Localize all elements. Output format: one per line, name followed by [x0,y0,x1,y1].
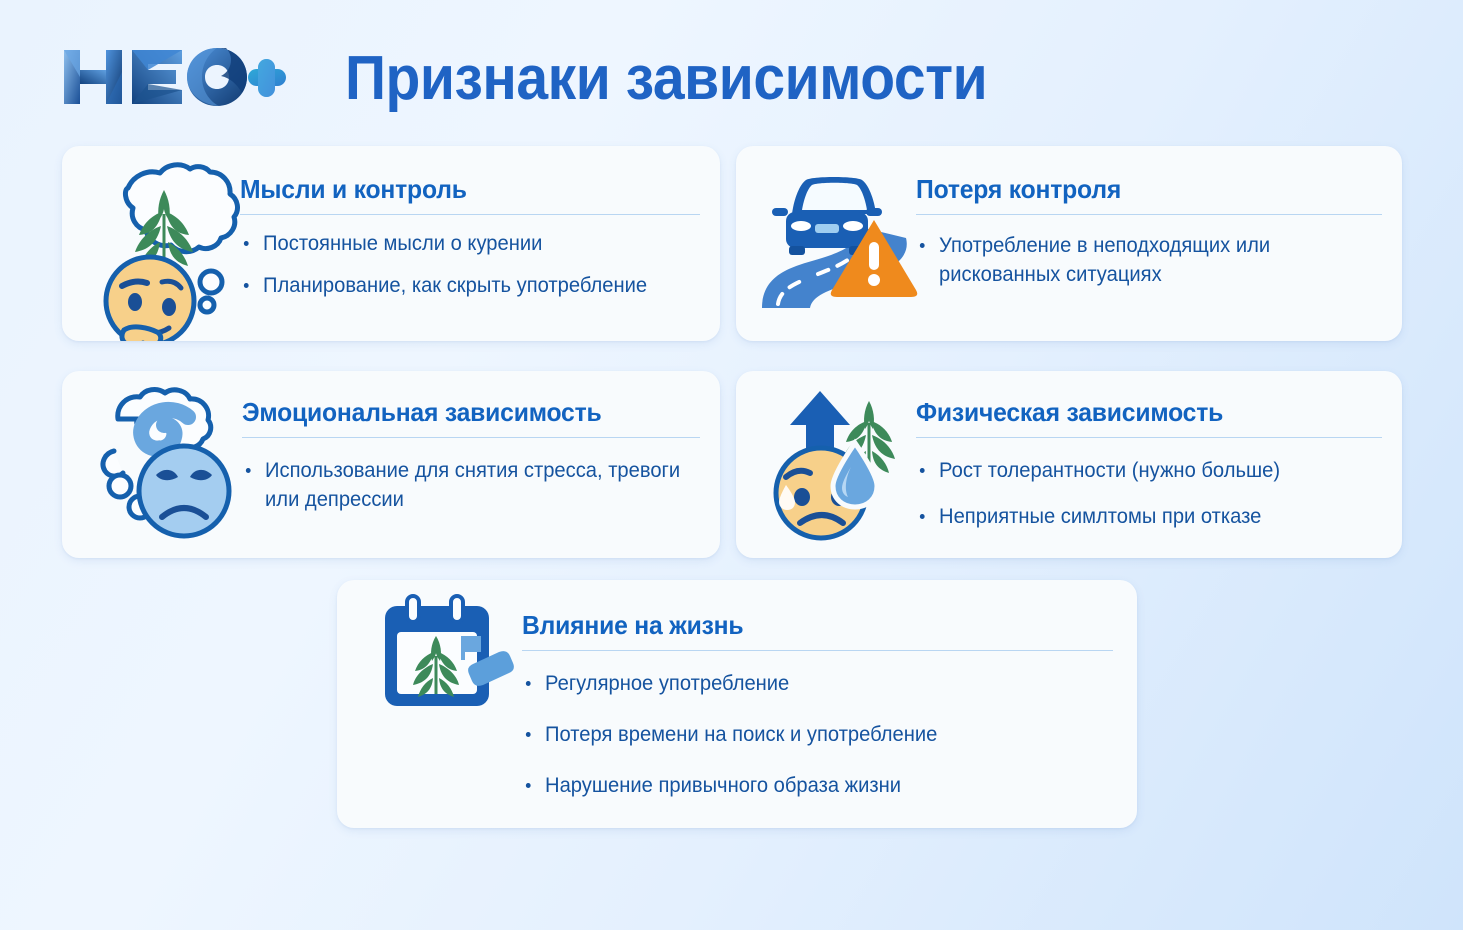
list-item: Постоянные мысли о курении [240,229,684,258]
bullet-dot-icon [244,283,249,288]
thinking-face-cannabis-thought-bubble-icon [88,162,246,341]
neo-plus-logo [62,42,287,112]
card-life-impact: Влияние на жизнь Регулярное употребление… [337,580,1137,828]
list-item: Неприятные симлтомы при отказе [916,502,1365,531]
bullet-dot-icon [920,243,925,248]
list-item-label: Нарушение привычного образа жизни [545,774,901,797]
card-title: Мысли и контроль [240,174,679,205]
card-content: Потеря контроля Употребление в неподходя… [916,146,1384,341]
list-item: Использование для снятия стресса, тревог… [242,456,684,514]
list-item-label: Потеря времени на поиск и употребление [545,723,937,746]
card-title: Физическая зависимость [916,397,1361,428]
page-title: Признаки зависимости [345,40,987,118]
list-item-label: Употребление в неподходящих или рискован… [939,234,1270,286]
bullet-dot-icon [246,468,251,473]
card-content: Влияние на жизнь Регулярное употребление… [522,580,1115,828]
bullet-dot-icon [920,468,925,473]
list-item-label: Рост толерантности (нужно больше) [939,459,1280,482]
car-road-warning-triangle-icon [756,162,922,312]
list-item: Рост толерантности (нужно больше) [916,456,1365,485]
card-title: Влияние на жизнь [522,610,1085,641]
card-content: Мысли и контроль Постоянные мысли о куре… [240,146,702,341]
title-divider [522,650,1113,651]
list-item: Употребление в неподходящих или рискован… [916,231,1365,289]
card-content: Физическая зависимость Рост толерантност… [916,371,1384,558]
title-divider [242,437,700,438]
list-item: Планирование, как скрыть употребление [240,271,684,300]
card-emotional-dependence: Эмоциональная зависимость Использование … [62,371,720,558]
bullet-list: Регулярное употребление Потеря времени н… [522,669,1115,800]
list-item-label: Регулярное употребление [545,672,789,695]
card-physical-dependence: Физическая зависимость Рост толерантност… [736,371,1402,558]
title-divider [240,214,700,215]
card-title: Потеря контроля [916,174,1361,205]
card-loss-of-control: Потеря контроля Употребление в неподходя… [736,146,1402,341]
bullet-list: Использование для снятия стресса, тревог… [242,456,702,514]
title-divider [916,437,1382,438]
calendar-cannabis-leaf-icon [377,594,527,714]
card-thoughts-control: Мысли и контроль Постоянные мысли о куре… [62,146,720,341]
bullet-list: Постоянные мысли о курении Планирование,… [240,229,702,300]
infographic-canvas: Признаки зависимости [0,0,1463,930]
header: Признаки зависимости [0,0,1463,140]
bullet-dot-icon [526,681,531,686]
card-title: Эмоциональная зависимость [242,397,679,428]
title-divider [916,214,1382,215]
bullet-list: Употребление в неподходящих или рискован… [916,231,1384,289]
list-item-label: Неприятные симлтомы при отказе [939,505,1261,528]
list-item: Потеря времени на поиск и употребление [522,720,1091,749]
bullet-dot-icon [920,514,925,519]
bullet-dot-icon [526,783,531,788]
card-content: Эмоциональная зависимость Использование … [242,371,702,558]
list-item: Нарушение привычного образа жизни [522,771,1091,800]
list-item-label: Постоянные мысли о курении [263,232,542,255]
bullet-dot-icon [526,732,531,737]
anxious-face-sweat-arrow-leaf-icon [758,381,916,546]
sad-blue-face-thought-cloud-icon [92,383,247,543]
bullet-list: Рост толерантности (нужно больше) Неприя… [916,456,1384,531]
list-item-label: Использование для снятия стресса, тревог… [265,459,680,511]
list-item: Регулярное употребление [522,669,1091,698]
list-item-label: Планирование, как скрыть употребление [263,274,647,297]
bullet-dot-icon [244,241,249,246]
